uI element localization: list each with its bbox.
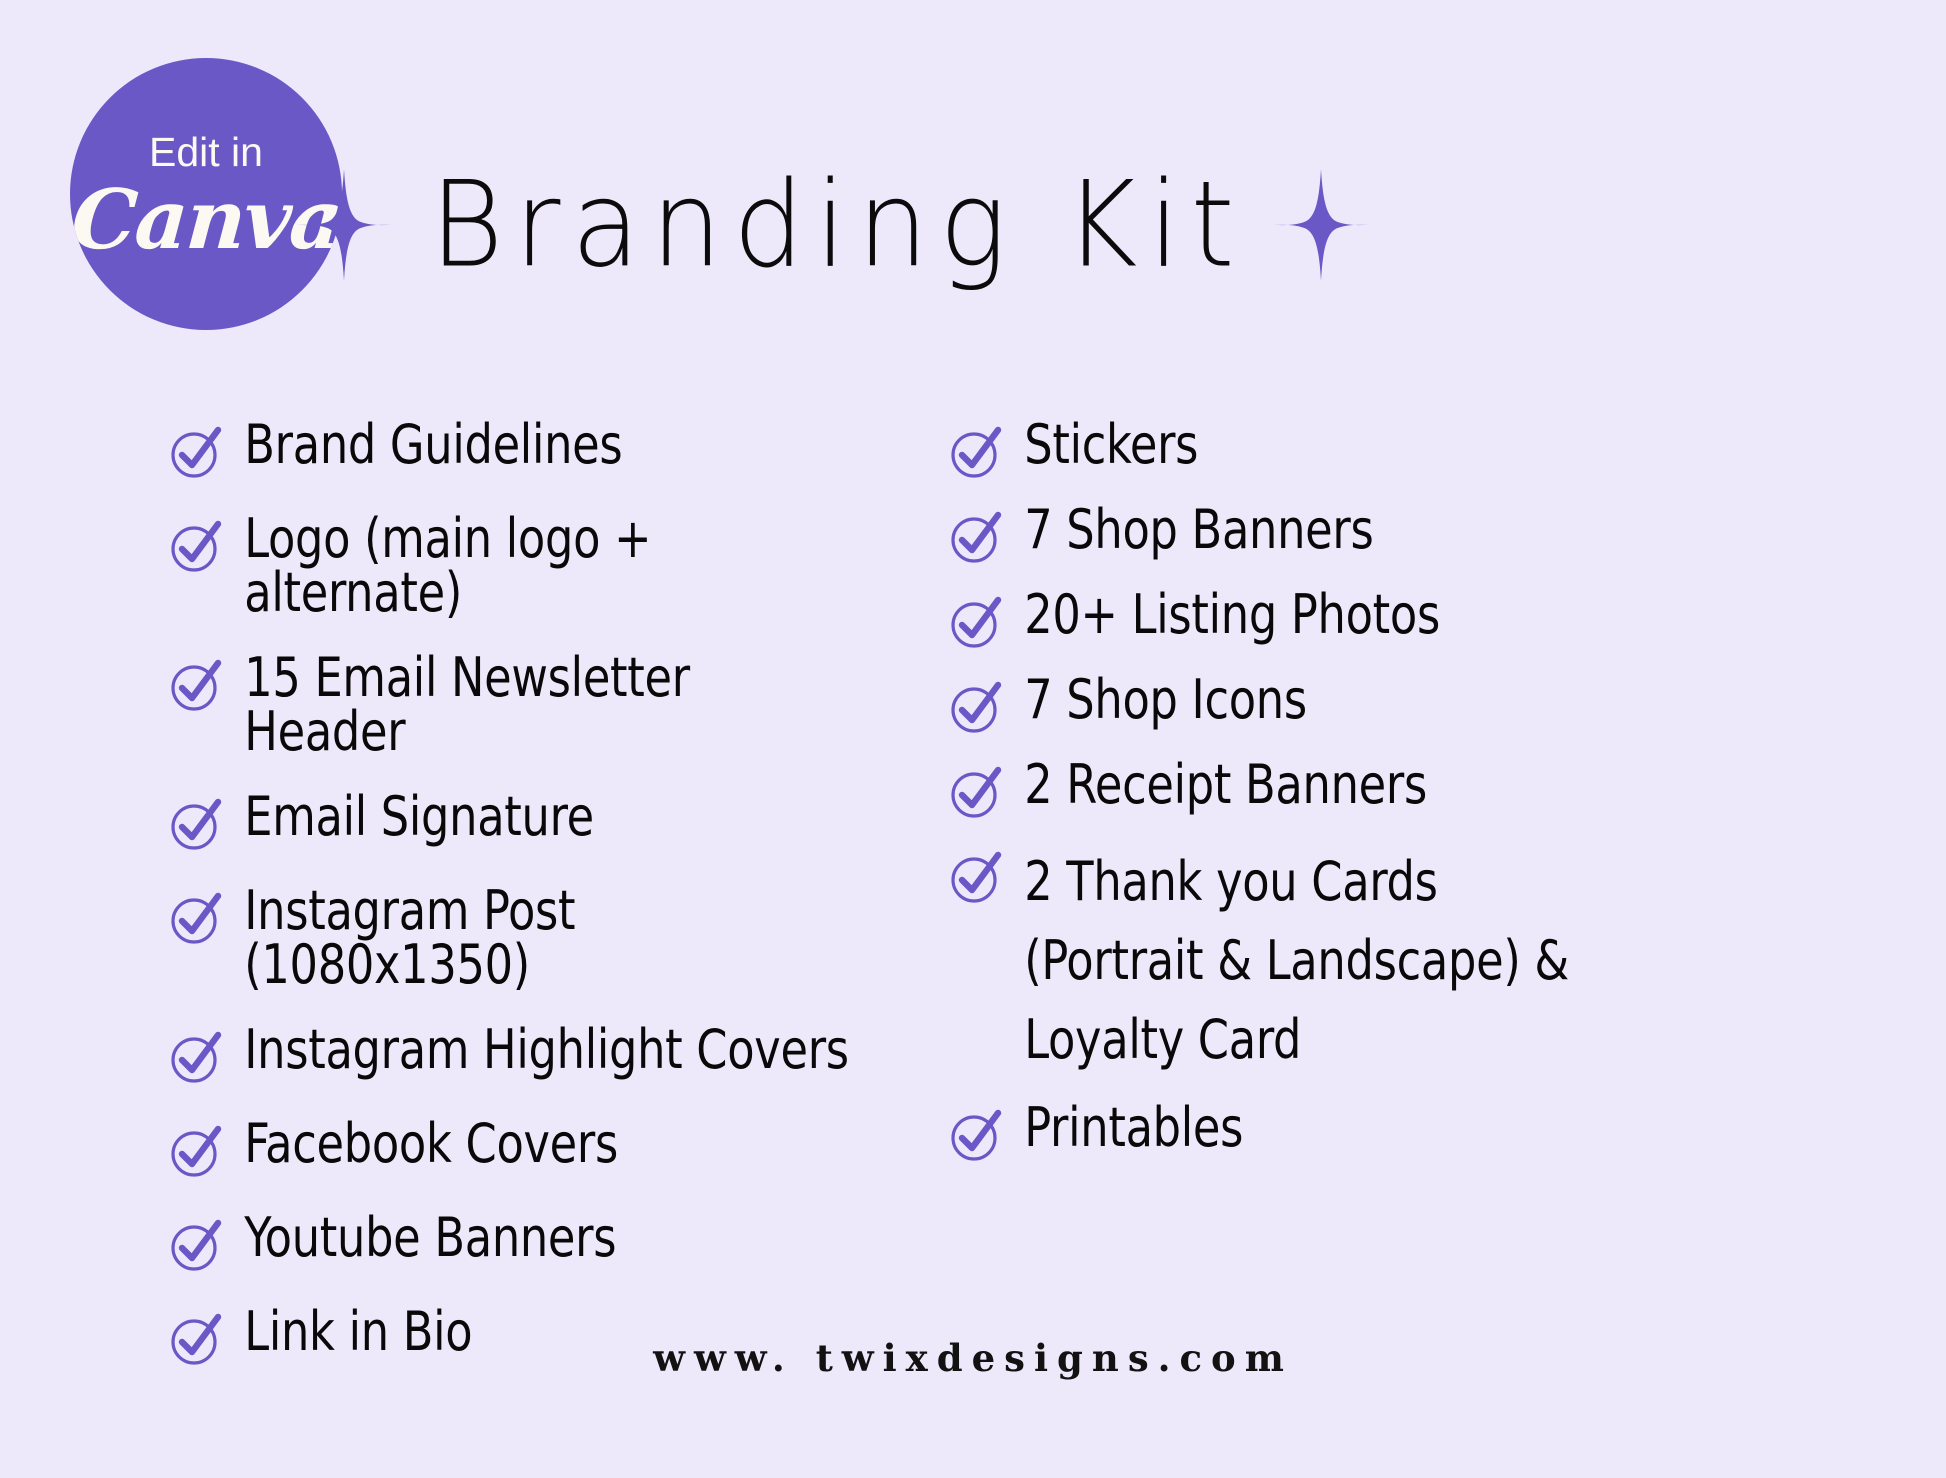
list-item[interactable]: 7 Shop Icons <box>948 673 1920 736</box>
list-item[interactable]: Brand Guidelines <box>168 418 920 481</box>
check-circle-icon <box>948 595 1004 651</box>
check-circle-icon <box>168 1124 224 1180</box>
list-item[interactable]: Youtube Banners <box>168 1211 920 1274</box>
check-circle-icon <box>948 510 1004 566</box>
list-item-label: 7 Shop Banners <box>1004 503 1847 557</box>
check-circle-icon <box>168 425 224 481</box>
list-item[interactable]: Instagram Post (1080x1350) <box>168 884 920 992</box>
list-item-label: 15 Email Newsletter Header <box>224 651 864 759</box>
check-circle-icon <box>168 891 224 947</box>
check-circle-icon <box>948 765 1004 821</box>
check-circle-icon <box>948 425 1004 481</box>
list-item[interactable]: Email Signature <box>168 790 920 853</box>
sparkle-star-icon-left <box>296 169 392 281</box>
list-item-label: 2 Thank you Cards (Portrait & Landscape)… <box>1004 843 1847 1079</box>
checklist-column-left: Brand Guidelines Logo (main logo + alter… <box>0 418 920 1368</box>
sparkle-star-icon-right <box>1273 169 1369 281</box>
list-item-label: Email Signature <box>224 790 864 844</box>
list-item-label: Brand Guidelines <box>224 418 864 472</box>
list-item[interactable]: 2 Receipt Banners <box>948 758 1920 821</box>
check-circle-icon <box>168 797 224 853</box>
check-circle-icon <box>168 1030 224 1086</box>
check-circle-icon <box>948 1108 1004 1164</box>
list-item-label: 7 Shop Icons <box>1004 673 1847 727</box>
list-item[interactable]: Stickers <box>948 418 1920 481</box>
list-item[interactable]: Logo (main logo + alternate) <box>168 512 920 620</box>
checklist-column-right: Stickers 7 Shop Banners 20+ Listing Phot… <box>920 418 1920 1368</box>
check-circle-icon <box>168 519 224 575</box>
list-item[interactable]: Facebook Covers <box>168 1117 920 1180</box>
check-circle-icon <box>948 850 1004 906</box>
list-item[interactable]: 15 Email Newsletter Header <box>168 651 920 759</box>
list-item-label: Instagram Post (1080x1350) <box>224 884 864 992</box>
list-item-label: Youtube Banners <box>224 1211 864 1265</box>
list-item[interactable]: 20+ Listing Photos <box>948 588 1920 651</box>
list-item-label: Facebook Covers <box>224 1117 864 1171</box>
list-item-label: Stickers <box>1004 418 1847 472</box>
title-row: Branding Kit <box>296 150 1636 300</box>
badge-edit-in-label: Edit in <box>149 132 263 173</box>
list-item[interactable]: 7 Shop Banners <box>948 503 1920 566</box>
features-checklist: Brand Guidelines Logo (main logo + alter… <box>0 418 1946 1368</box>
list-item-label: 20+ Listing Photos <box>1004 588 1847 642</box>
page-title: Branding Kit <box>392 166 1273 285</box>
footer-website-url[interactable]: www. twixdesigns.com <box>0 1336 1946 1380</box>
list-item[interactable]: 2 Thank you Cards (Portrait & Landscape)… <box>948 843 1920 1079</box>
list-item-label: 2 Receipt Banners <box>1004 758 1847 812</box>
check-circle-icon <box>168 1218 224 1274</box>
list-item-label: Instagram Highlight Covers <box>224 1023 864 1077</box>
list-item-label: Logo (main logo + alternate) <box>224 512 864 620</box>
list-item-label: Printables <box>1004 1101 1847 1155</box>
list-item[interactable]: Printables <box>948 1101 1920 1164</box>
check-circle-icon <box>168 658 224 714</box>
branding-kit-poster: Edit in Canva Branding Kit Brand Guideli… <box>0 0 1946 1478</box>
list-item[interactable]: Instagram Highlight Covers <box>168 1023 920 1086</box>
check-circle-icon <box>948 680 1004 736</box>
